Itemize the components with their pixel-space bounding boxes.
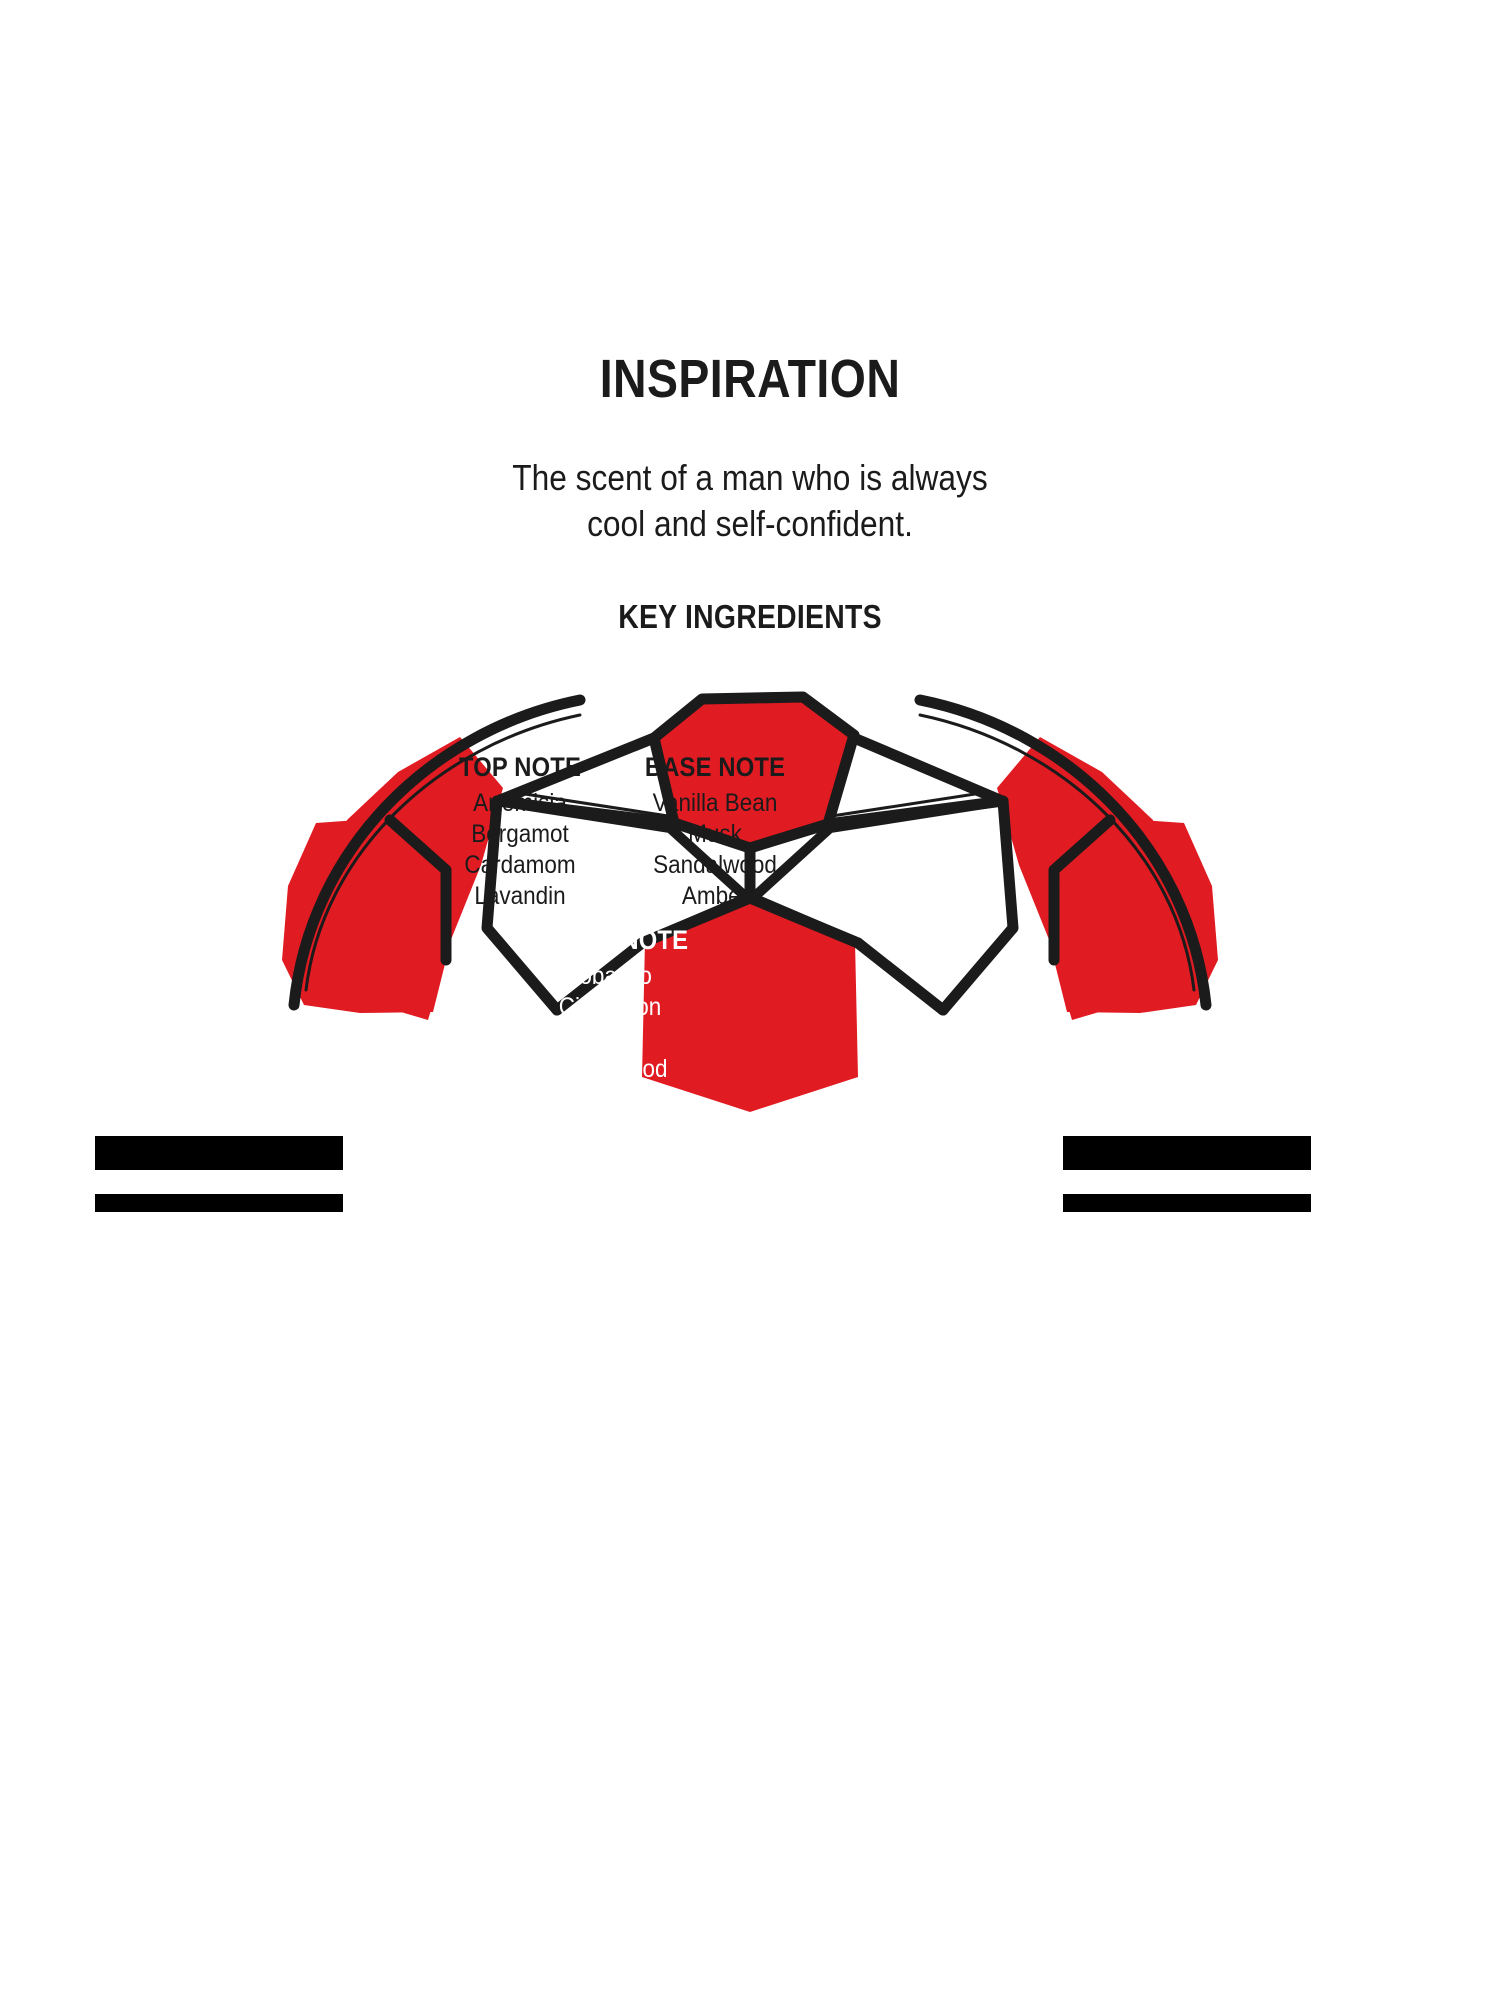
panel-heart-note-item: Cedarwood xyxy=(507,1054,714,1085)
page-canvas: INSPIRATION The scent of a man who is al… xyxy=(0,0,1500,2000)
panel-base-note-item: Amber xyxy=(603,881,828,912)
panel-heart-note: HEART NOTE Tobacco Cinnamon Iris Cedarwo… xyxy=(495,925,725,1085)
subtitle-line-2: cool and self-confident. xyxy=(90,501,1410,547)
subtitle-block: The scent of a man who is always cool an… xyxy=(90,455,1410,547)
panel-heart-note-title: HEART NOTE xyxy=(509,925,711,956)
footer-bar-left-thick xyxy=(95,1136,343,1170)
footer-bar-left-thin xyxy=(95,1194,343,1212)
panel-base-note-item: Vanilla Bean xyxy=(603,788,828,819)
panel-base-note-title: BASE NOTE xyxy=(605,752,825,783)
soccer-ball-diagram: TOP NOTE Artemisia Bergamot Cardamom Lav… xyxy=(250,660,1250,1120)
subtitle-line-1: The scent of a man who is always xyxy=(90,455,1410,501)
panel-base-note-item: Sandalwood xyxy=(603,850,828,881)
section-title-key-ingredients: KEY INGREDIENTS xyxy=(105,598,1395,636)
footer-bar-right-thin xyxy=(1063,1194,1311,1212)
panel-base-note-item: Musk xyxy=(603,819,828,850)
panel-heart-note-item: Iris xyxy=(507,1023,714,1054)
footer-bar-right-thick xyxy=(1063,1136,1311,1170)
panel-heart-note-item: Tobacco xyxy=(507,961,714,992)
seam-right-upper xyxy=(854,738,1000,800)
page-title: INSPIRATION xyxy=(105,348,1395,410)
panel-base-note: BASE NOTE Vanilla Bean Musk Sandalwood A… xyxy=(590,752,840,912)
panel-heart-note-item: Cinnamon xyxy=(507,992,714,1023)
